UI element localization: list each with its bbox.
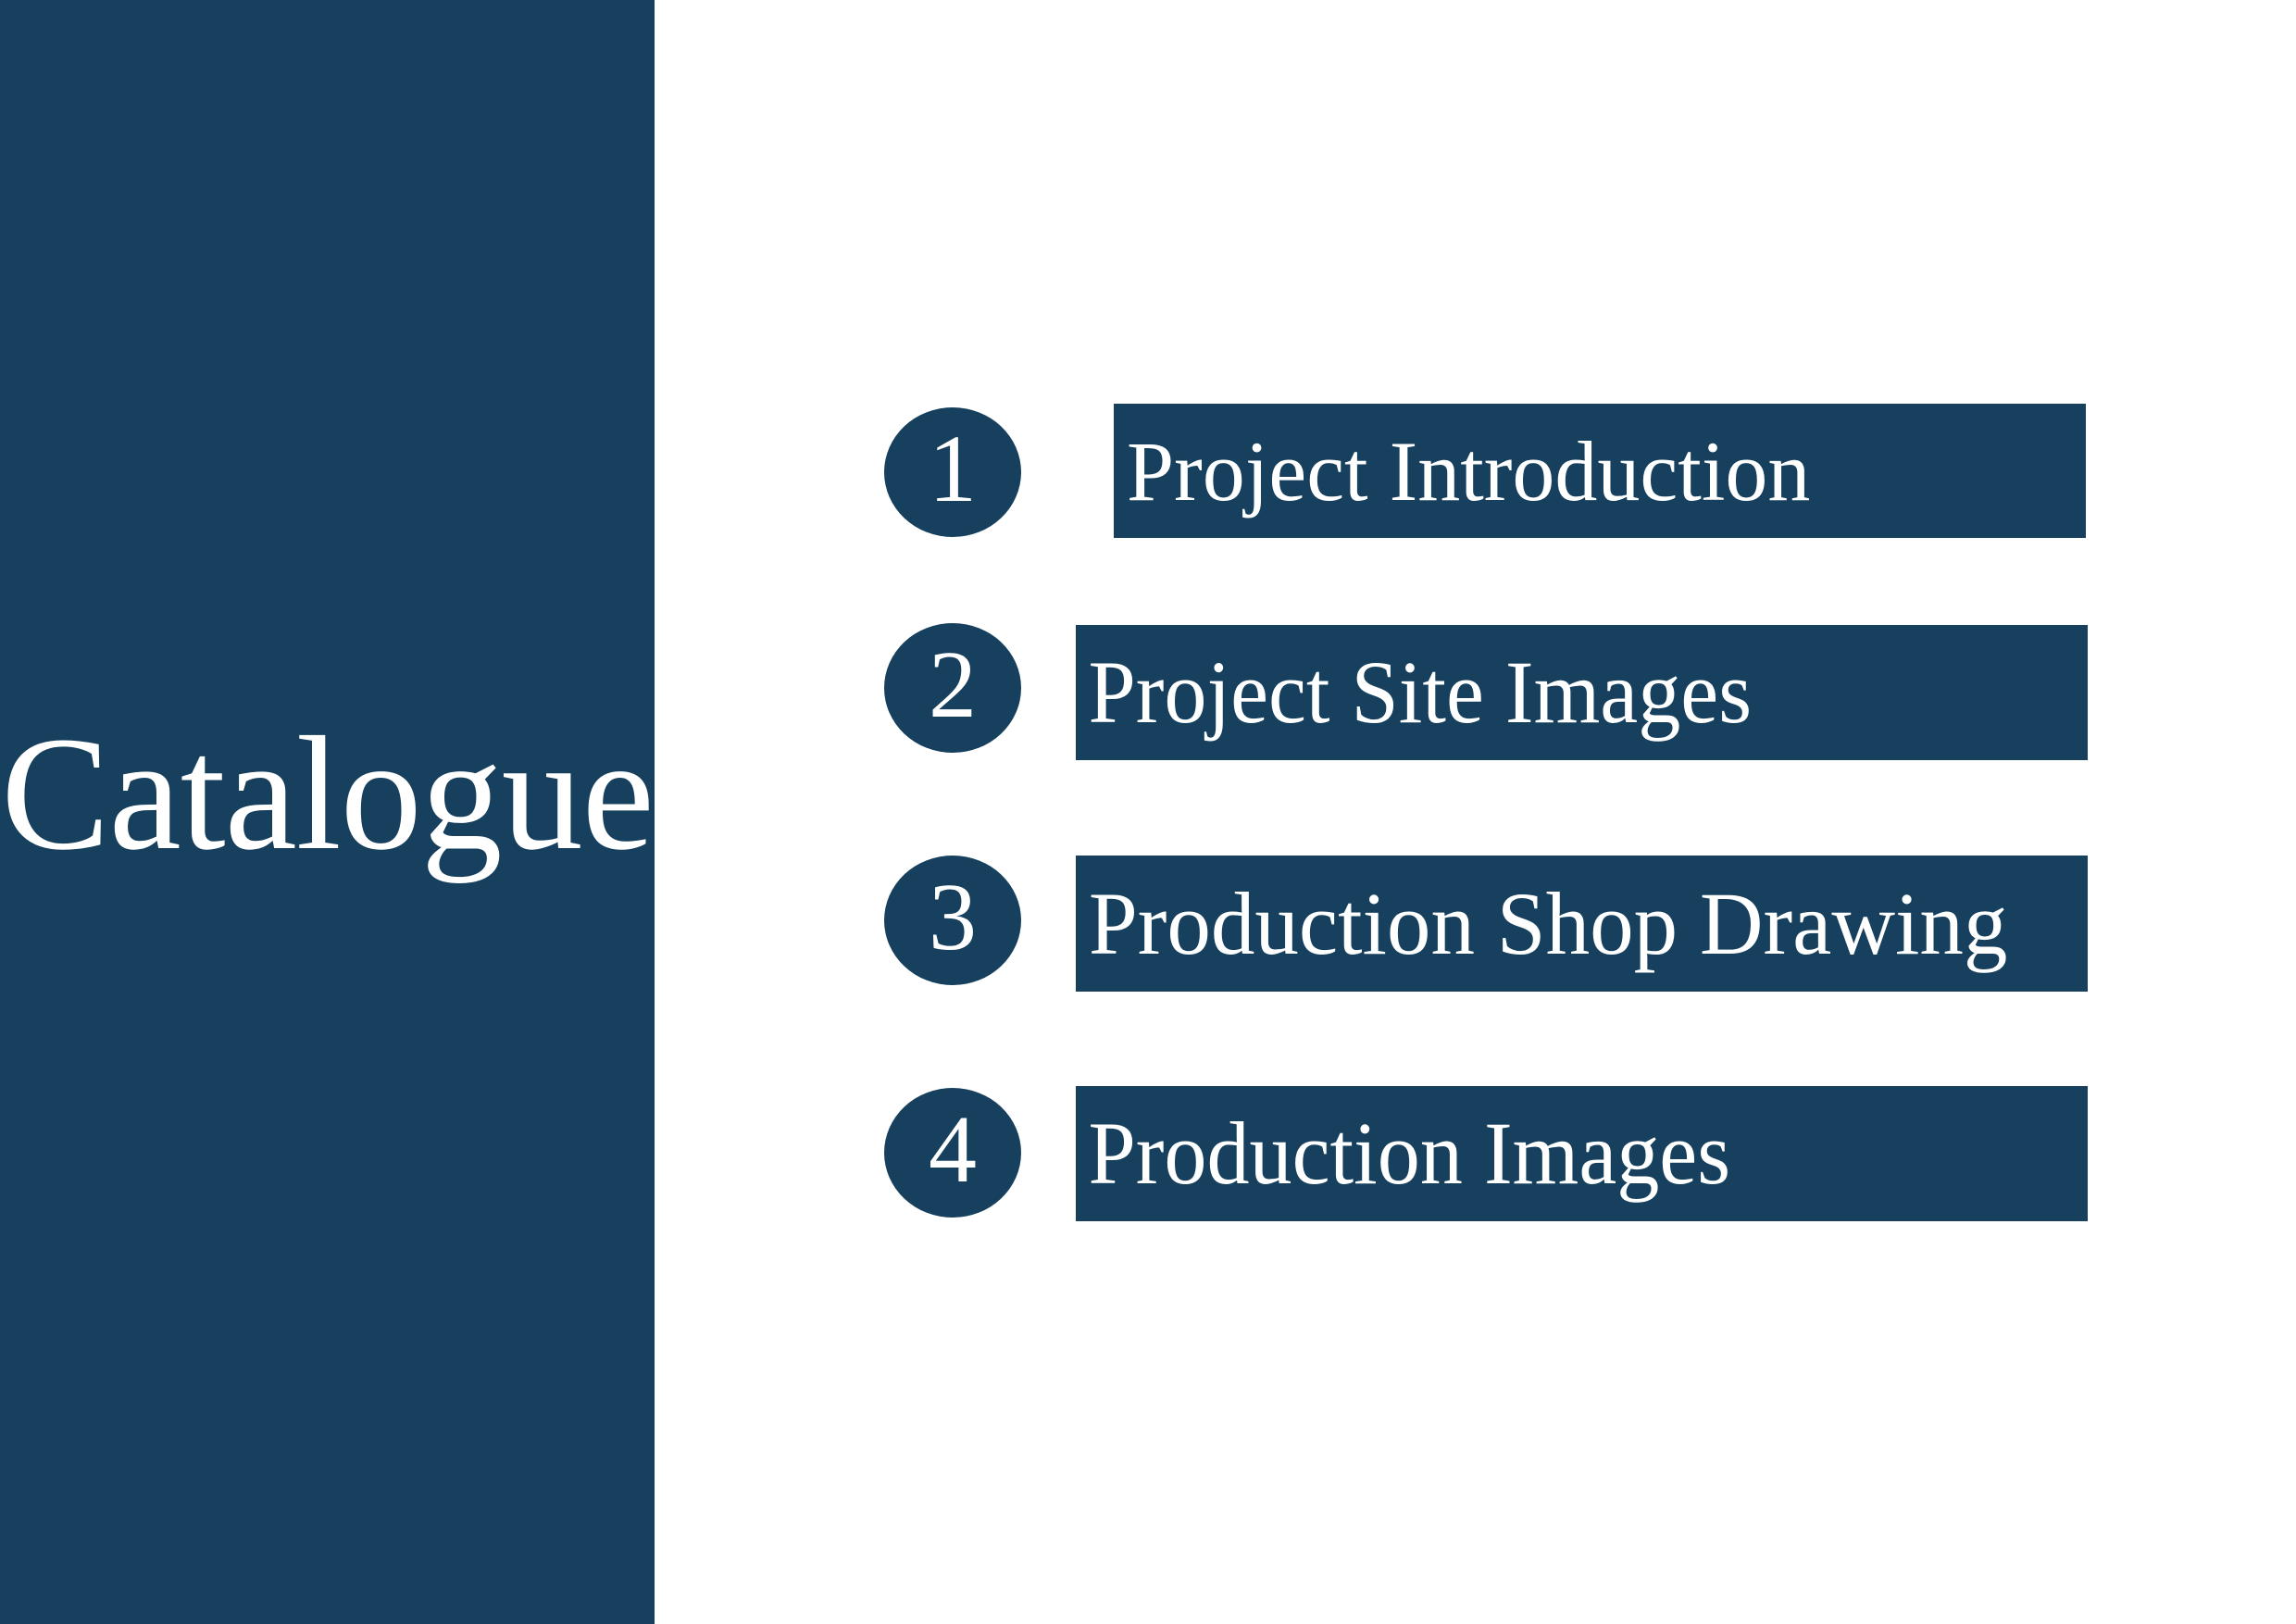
agenda-label-bar-1[interactable]: Project Introduction: [1114, 404, 2086, 538]
agenda-number-badge-2: 2: [884, 623, 1021, 753]
agenda-item-label-3: Production Shop Drawing: [1076, 880, 2007, 968]
agenda-number-badge-3: 3: [884, 856, 1021, 985]
agenda-item-label-4: Production Images: [1076, 1109, 1730, 1198]
agenda-item-label-1: Project Introduction: [1114, 429, 1810, 514]
agenda-item-label-2: Project Site Images: [1076, 648, 1752, 737]
agenda-label-bar-3[interactable]: Production Shop Drawing: [1076, 856, 2088, 992]
agenda-list: 1 Project Introduction 2 Project Site Im…: [0, 0, 2296, 1624]
agenda-label-bar-2[interactable]: Project Site Images: [1076, 625, 2088, 760]
agenda-number-badge-1: 1: [884, 407, 1021, 537]
agenda-number-badge-4: 4: [884, 1088, 1021, 1218]
catalogue-slide: Catalogue 1 Project Introduction 2 Proje…: [0, 0, 2296, 1624]
agenda-label-bar-4[interactable]: Production Images: [1076, 1086, 2088, 1221]
